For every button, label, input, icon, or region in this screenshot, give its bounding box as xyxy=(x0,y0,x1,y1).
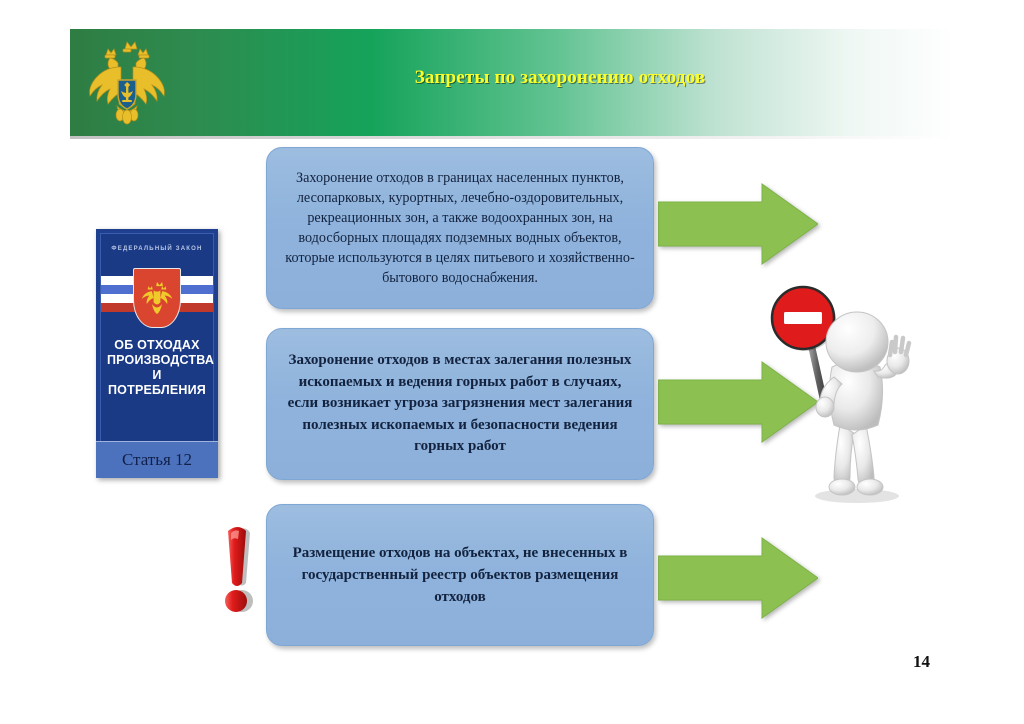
page-title: Запреты по захоронению отходов xyxy=(330,67,790,89)
raised-palm-icon xyxy=(887,337,909,374)
russian-prosecutor-eagle-emblem xyxy=(84,36,170,130)
prohibition-box-3: Размещение отходов на объектах, не внесе… xyxy=(266,504,654,646)
book-superheading: ФЕДЕРАЛЬНЫЙ ЗАКОН xyxy=(101,246,213,252)
prohibition-box-2: Захоронение отходов в местах залегания п… xyxy=(266,328,654,480)
green-arrow-right-3 xyxy=(658,534,818,622)
green-arrow-right-1 xyxy=(658,180,818,268)
page-number: 14 xyxy=(913,652,930,672)
prohibition-box-1: Захоронение отходов в границах населенны… xyxy=(266,147,654,309)
red-exclamation-mark-icon xyxy=(218,521,264,621)
book-title: ОБ ОТХОДАХ ПРОИЗВОДСТВА И ПОТРЕБЛЕНИЯ xyxy=(107,338,207,398)
coat-of-arms-icon xyxy=(133,268,181,328)
federal-law-book-image: ФЕДЕРАЛЬНЫЙ ЗАКОН ОБ ОТХОДАХ ПРОИЗВОДСТВ… xyxy=(96,229,218,478)
prohibition-text-3: Размещение отходов на объектах, не внесе… xyxy=(267,542,653,608)
book-cover: ФЕДЕРАЛЬНЫЙ ЗАКОН ОБ ОТХОДАХ ПРОИЗВОДСТВ… xyxy=(100,233,214,474)
prohibition-text-2: Захоронение отходов в местах залегания п… xyxy=(267,350,653,458)
prohibition-text-1: Захоронение отходов в границах населенны… xyxy=(267,168,653,288)
book-article-label: Статья 12 xyxy=(96,441,218,478)
stop-figure-illustration xyxy=(762,285,922,505)
